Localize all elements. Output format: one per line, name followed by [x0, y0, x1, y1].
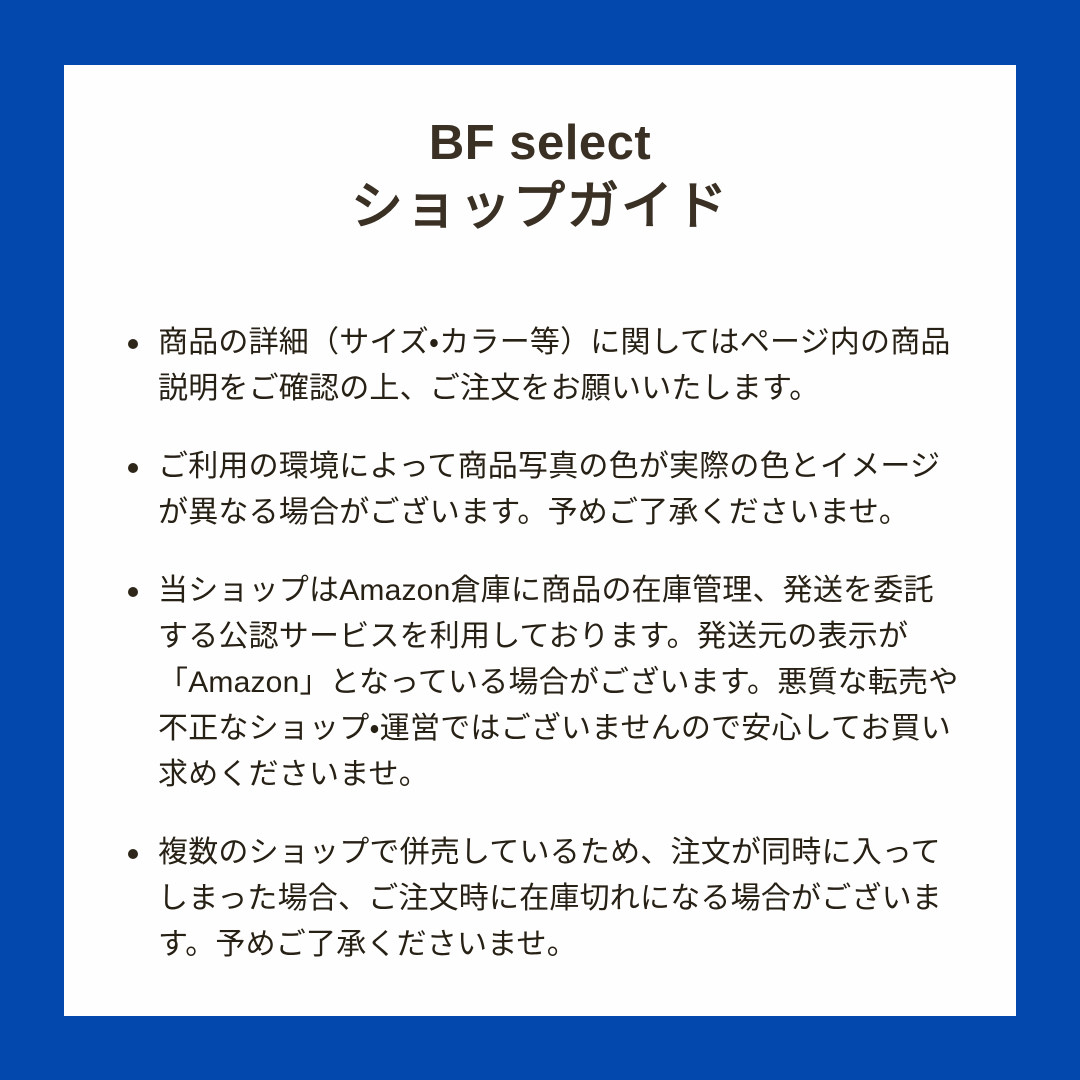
content-panel: BF select ショップガイド 商品の詳細（サイズ・カラー等）に関してはペー… [64, 65, 1016, 1016]
page-title: BF select ショップガイド [64, 112, 1016, 240]
list-item: 商品の詳細（サイズ・カラー等）に関してはページ内の商品説明をご確認の上、ご注文を… [64, 320, 922, 412]
list-item: ご利用の環境によって商品写真の色が実際の色とイメージが異なる場合がございます。予… [64, 444, 922, 536]
bullet-dot-icon [128, 463, 138, 473]
guide-note-list: 商品の詳細（サイズ・カラー等）に関してはページ内の商品説明をご確認の上、ご注文を… [64, 320, 1016, 968]
list-item-text: 商品の詳細（サイズ・カラー等）に関してはページ内の商品説明をご確認の上、ご注文を… [158, 320, 962, 412]
list-item-text: 複数のショップで併売しているため、注文が同時に入ってしまった場合、ご注文時に在庫… [158, 830, 962, 968]
title-line-brand: BF select [64, 112, 1016, 174]
list-item-text: ご利用の環境によって商品写真の色が実際の色とイメージが異なる場合がございます。予… [158, 444, 962, 536]
list-item-text: 当ショップはAmazon倉庫に商品の在庫管理、発送を委託する公認サービスを利用し… [158, 568, 962, 798]
bullet-dot-icon [128, 587, 138, 597]
guide-poster: BF select ショップガイド 商品の詳細（サイズ・カラー等）に関してはペー… [0, 0, 1080, 1080]
bullet-dot-icon [128, 339, 138, 349]
list-item: 複数のショップで併売しているため、注文が同時に入ってしまった場合、ご注文時に在庫… [64, 830, 922, 968]
bullet-dot-icon [128, 849, 138, 859]
title-line-subtitle: ショップガイド [64, 174, 1016, 240]
list-item: 当ショップはAmazon倉庫に商品の在庫管理、発送を委託する公認サービスを利用し… [64, 568, 922, 798]
